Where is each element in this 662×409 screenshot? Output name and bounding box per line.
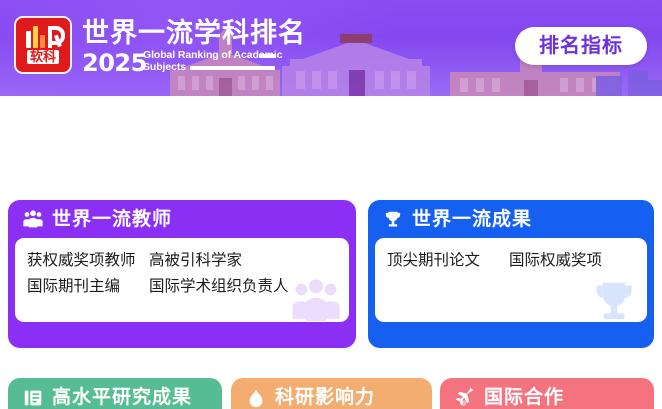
indicator-item[interactable]: 国际权威奖项	[509, 248, 602, 274]
card-world-class-results[interactable]: 世界一流成果 顶尖期刊论文 国际权威奖项	[368, 200, 654, 348]
card-header: 世界一流成果	[368, 200, 654, 238]
indicator-item[interactable]: 高被引科学家	[149, 248, 242, 274]
title-dash-decor-2	[190, 66, 275, 70]
card-title: 世界一流成果	[412, 209, 532, 231]
logo-letter-r	[48, 26, 61, 48]
card-title: 科研影响力	[275, 387, 375, 409]
card-world-class-teachers[interactable]: 世界一流教师 获权威奖项教师 高被引科学家 国际期刊主编 国际学术组织负责人	[8, 200, 356, 348]
indicator-item[interactable]: 获权威奖项教师	[27, 248, 149, 274]
airplane-icon	[454, 387, 476, 409]
ranking-year: 2025	[82, 51, 147, 75]
logo-text: 软科	[27, 50, 59, 64]
card-research-impact[interactable]: 科研影响力 论文标准化影响力	[231, 378, 432, 409]
logo-bars-icon	[26, 26, 61, 48]
card-international-collaboration[interactable]: 国际合作 国际合作论文比例	[440, 378, 654, 409]
indicator-row: 顶尖期刊论文 国际权威奖项	[387, 248, 635, 274]
card-title: 国际合作	[484, 387, 564, 409]
ranking-indicators-button[interactable]: 排名指标	[515, 27, 647, 65]
book-icon	[22, 387, 44, 409]
indicator-item[interactable]: 国际期刊主编	[27, 274, 149, 300]
page-title: 世界一流学科排名	[82, 18, 306, 48]
indicator-row: 获权威奖项教师 高被引科学家	[27, 248, 337, 274]
card-header: 高水平研究成果	[8, 378, 222, 409]
ranking-indicators-page: 软科 世界一流学科排名 2025 Global Ranking of Acade…	[0, 0, 662, 409]
card-header: 国际合作	[440, 378, 654, 409]
flame-icon	[245, 387, 267, 409]
card-body: 顶尖期刊论文 国际权威奖项	[375, 238, 647, 322]
indicator-row: 国际期刊主编 国际学术组织负责人	[27, 274, 337, 300]
shanghairanking-logo: 软科	[14, 16, 72, 74]
card-body: 获权威奖项教师 高被引科学家 国际期刊主编 国际学术组织负责人	[15, 238, 349, 322]
trophy-ghost-icon	[587, 276, 641, 322]
card-header: 科研影响力	[231, 378, 432, 409]
card-high-level-research[interactable]: 高水平研究成果 重要期刊论文	[8, 378, 222, 409]
people-icon	[22, 209, 44, 231]
card-title: 世界一流教师	[52, 209, 172, 231]
trophy-icon	[382, 209, 404, 231]
title-dash-decor-1	[259, 54, 275, 58]
card-header: 世界一流教师	[8, 200, 356, 238]
page-header: 软科 世界一流学科排名 2025 Global Ranking of Acade…	[0, 0, 662, 96]
indicator-item[interactable]: 国际学术组织负责人	[149, 274, 289, 300]
indicator-item[interactable]: 顶尖期刊论文	[387, 248, 509, 274]
card-title: 高水平研究成果	[52, 387, 192, 409]
